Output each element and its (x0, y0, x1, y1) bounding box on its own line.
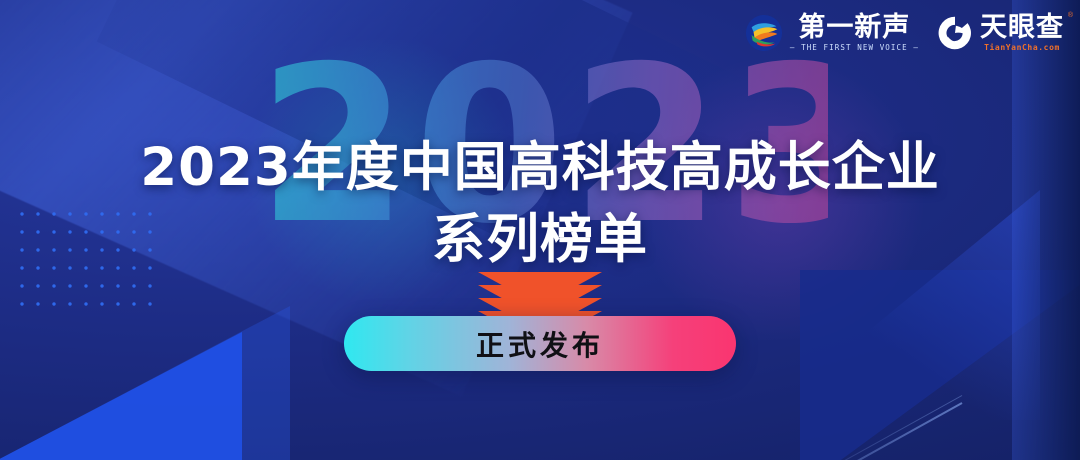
headline: 2023年度中国高科技高成长企业 系列榜单 (0, 132, 1080, 276)
triangle-bottom-left (0, 332, 242, 460)
logo-tyc-name: 天眼查 (980, 14, 1064, 41)
trademark-icon: ® (1068, 12, 1073, 19)
logo-first-new-voice-text: 第一新声 — THE FIRST NEW VOICE — (790, 14, 919, 52)
publish-button[interactable]: 正式发布 (344, 316, 736, 371)
headline-line-2: 系列榜单 (0, 204, 1080, 276)
logo-row: 第一新声 — THE FIRST NEW VOICE — 天眼查 ® TianY… (745, 14, 1064, 52)
logo-fnv-name: 第一新声 (798, 14, 910, 41)
logo-fnv-tagline: — THE FIRST NEW VOICE — (790, 44, 919, 52)
logo-tianyancha[interactable]: 天眼查 ® TianYanCha.com (937, 14, 1064, 52)
swirl-logo-icon (745, 14, 783, 52)
camera-lens-icon (937, 15, 973, 51)
promo-banner: 2023 第一新声 — THE FIRST NEW VOICE — (0, 0, 1080, 460)
publish-button-label: 正式发布 (476, 324, 604, 364)
logo-first-new-voice[interactable]: 第一新声 — THE FIRST NEW VOICE — (745, 14, 919, 52)
logo-tianyancha-text: 天眼查 ® TianYanCha.com (980, 14, 1064, 52)
logo-tyc-tagline: TianYanCha.com (984, 44, 1060, 52)
headline-line-1: 2023年度中国高科技高成长企业 (140, 137, 940, 198)
